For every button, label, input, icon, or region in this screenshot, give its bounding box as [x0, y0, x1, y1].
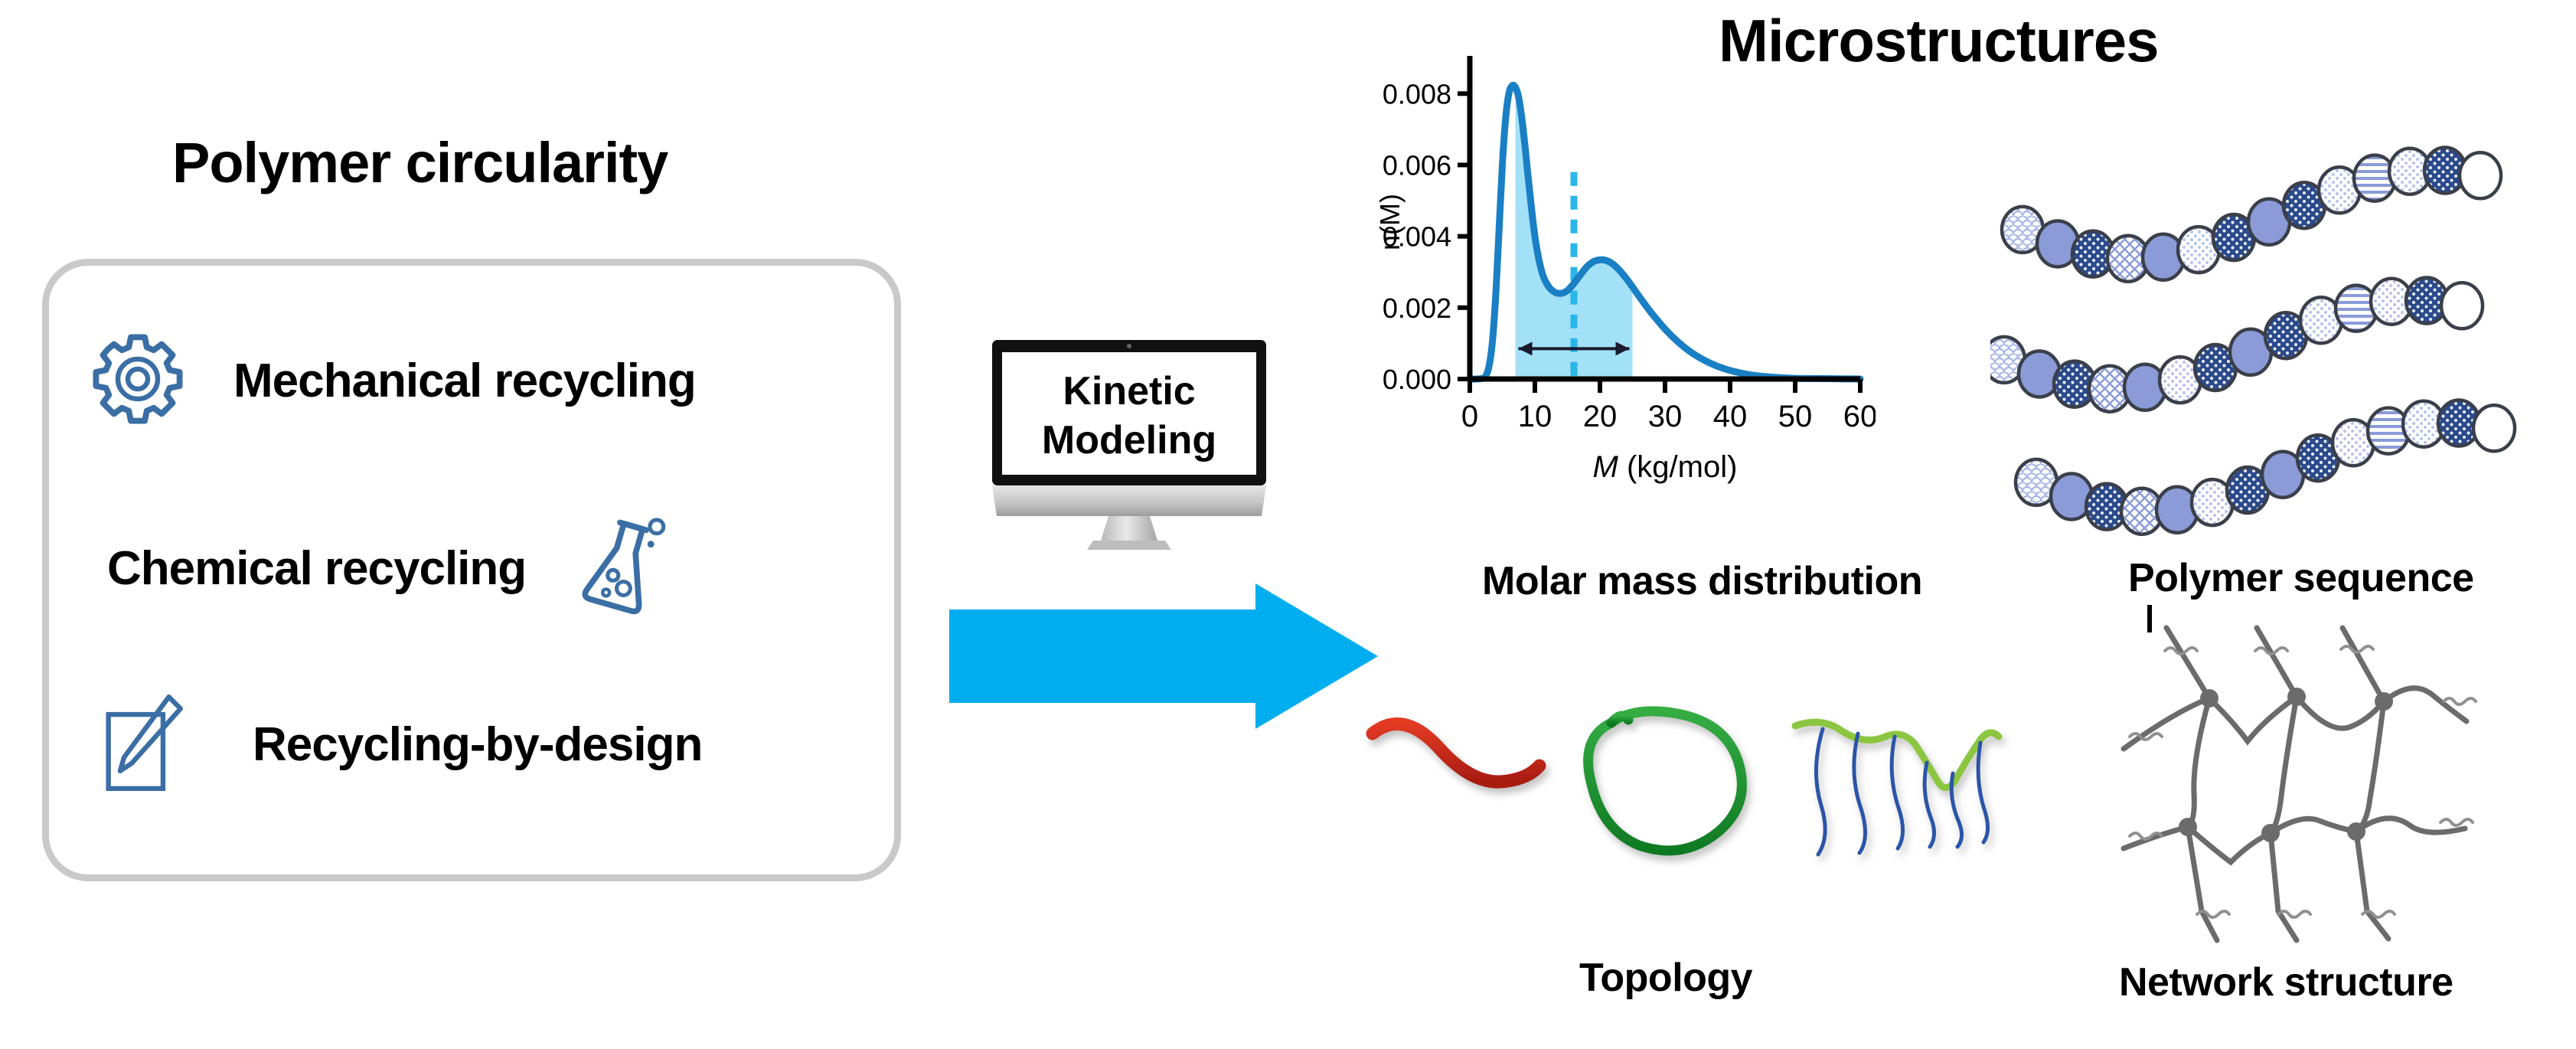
kinetic-modeling-monitor: Kinetic Modeling — [988, 337, 1271, 559]
chart-shaded-band — [1470, 85, 1860, 379]
circularity-item-mechanical-recycling[interactable]: Mechanical recycling — [88, 329, 696, 433]
circularity-item-chemical-recycling[interactable]: Chemical recycling — [107, 513, 671, 624]
chart-x-axis-label: M (kg/mol) — [1593, 450, 1738, 484]
topology-graft-comb — [1795, 722, 1999, 855]
caption-network-structure: Network structure — [2119, 959, 2454, 1005]
chart-x-tick-label: 0 — [1461, 400, 1478, 433]
topology-cyclic-ring — [1588, 711, 1742, 851]
flask-icon — [572, 513, 671, 624]
topology-linear-chain — [1373, 724, 1539, 783]
caption-polymer-sequence: Polymer sequence — [2128, 555, 2474, 601]
circularity-item-label-mechanical: Mechanical recycling — [233, 354, 696, 408]
chart-x-tick-label: 50 — [1778, 400, 1813, 433]
chart-x-tick-label: 60 — [1843, 400, 1876, 433]
chart-y-tick-label: 0.002 — [1383, 292, 1451, 324]
chart-y-axis-label: n(M) — [1374, 194, 1406, 250]
polymer-sequence-illustration — [1990, 115, 2576, 544]
chart-y-tick-label: 0.006 — [1383, 149, 1451, 181]
monitor-text-line-1: Kinetic — [1063, 369, 1195, 413]
chart-x-tick-label: 40 — [1713, 400, 1748, 433]
monomer-unit — [2460, 152, 2501, 198]
edit-note-icon — [96, 689, 195, 800]
monomer-unit — [2473, 405, 2515, 451]
chart-y-tick-label: 0.000 — [1383, 364, 1451, 395]
chart-x-tick-label: 30 — [1648, 400, 1683, 433]
circularity-item-label-design: Recycling-by-design — [253, 717, 702, 772]
polymer-chain — [2002, 148, 2501, 282]
chart-x-tick-label: 10 — [1518, 400, 1552, 433]
monomer-unit — [2441, 283, 2483, 328]
topology-illustration — [1359, 689, 2048, 942]
circularity-item-label-chemical: Chemical recycling — [107, 541, 526, 596]
chain-end-squiggles — [2130, 646, 2476, 917]
polymer-circularity-title: Polymer circularity — [172, 130, 668, 195]
molar-mass-distribution-chart: 0.0000.0020.0040.0060.0080102030405060M … — [1355, 42, 1876, 547]
monitor-text-line-2: Modeling — [1042, 418, 1216, 462]
chart-x-tick-label: 20 — [1583, 400, 1618, 433]
process-arrow-icon — [949, 583, 1378, 729]
chart-y-tick-label: 0.008 — [1383, 78, 1451, 109]
gear-icon — [88, 329, 188, 433]
network-structure-illustration — [2067, 605, 2526, 949]
polymer-chain — [2016, 400, 2515, 534]
caption-topology: Topology — [1579, 955, 1752, 1001]
circularity-item-recycling-by-design[interactable]: Recycling-by-design — [96, 689, 702, 800]
caption-molar-mass-distribution: Molar mass distribution — [1482, 558, 1922, 604]
polymer-chain — [1990, 278, 2483, 412]
